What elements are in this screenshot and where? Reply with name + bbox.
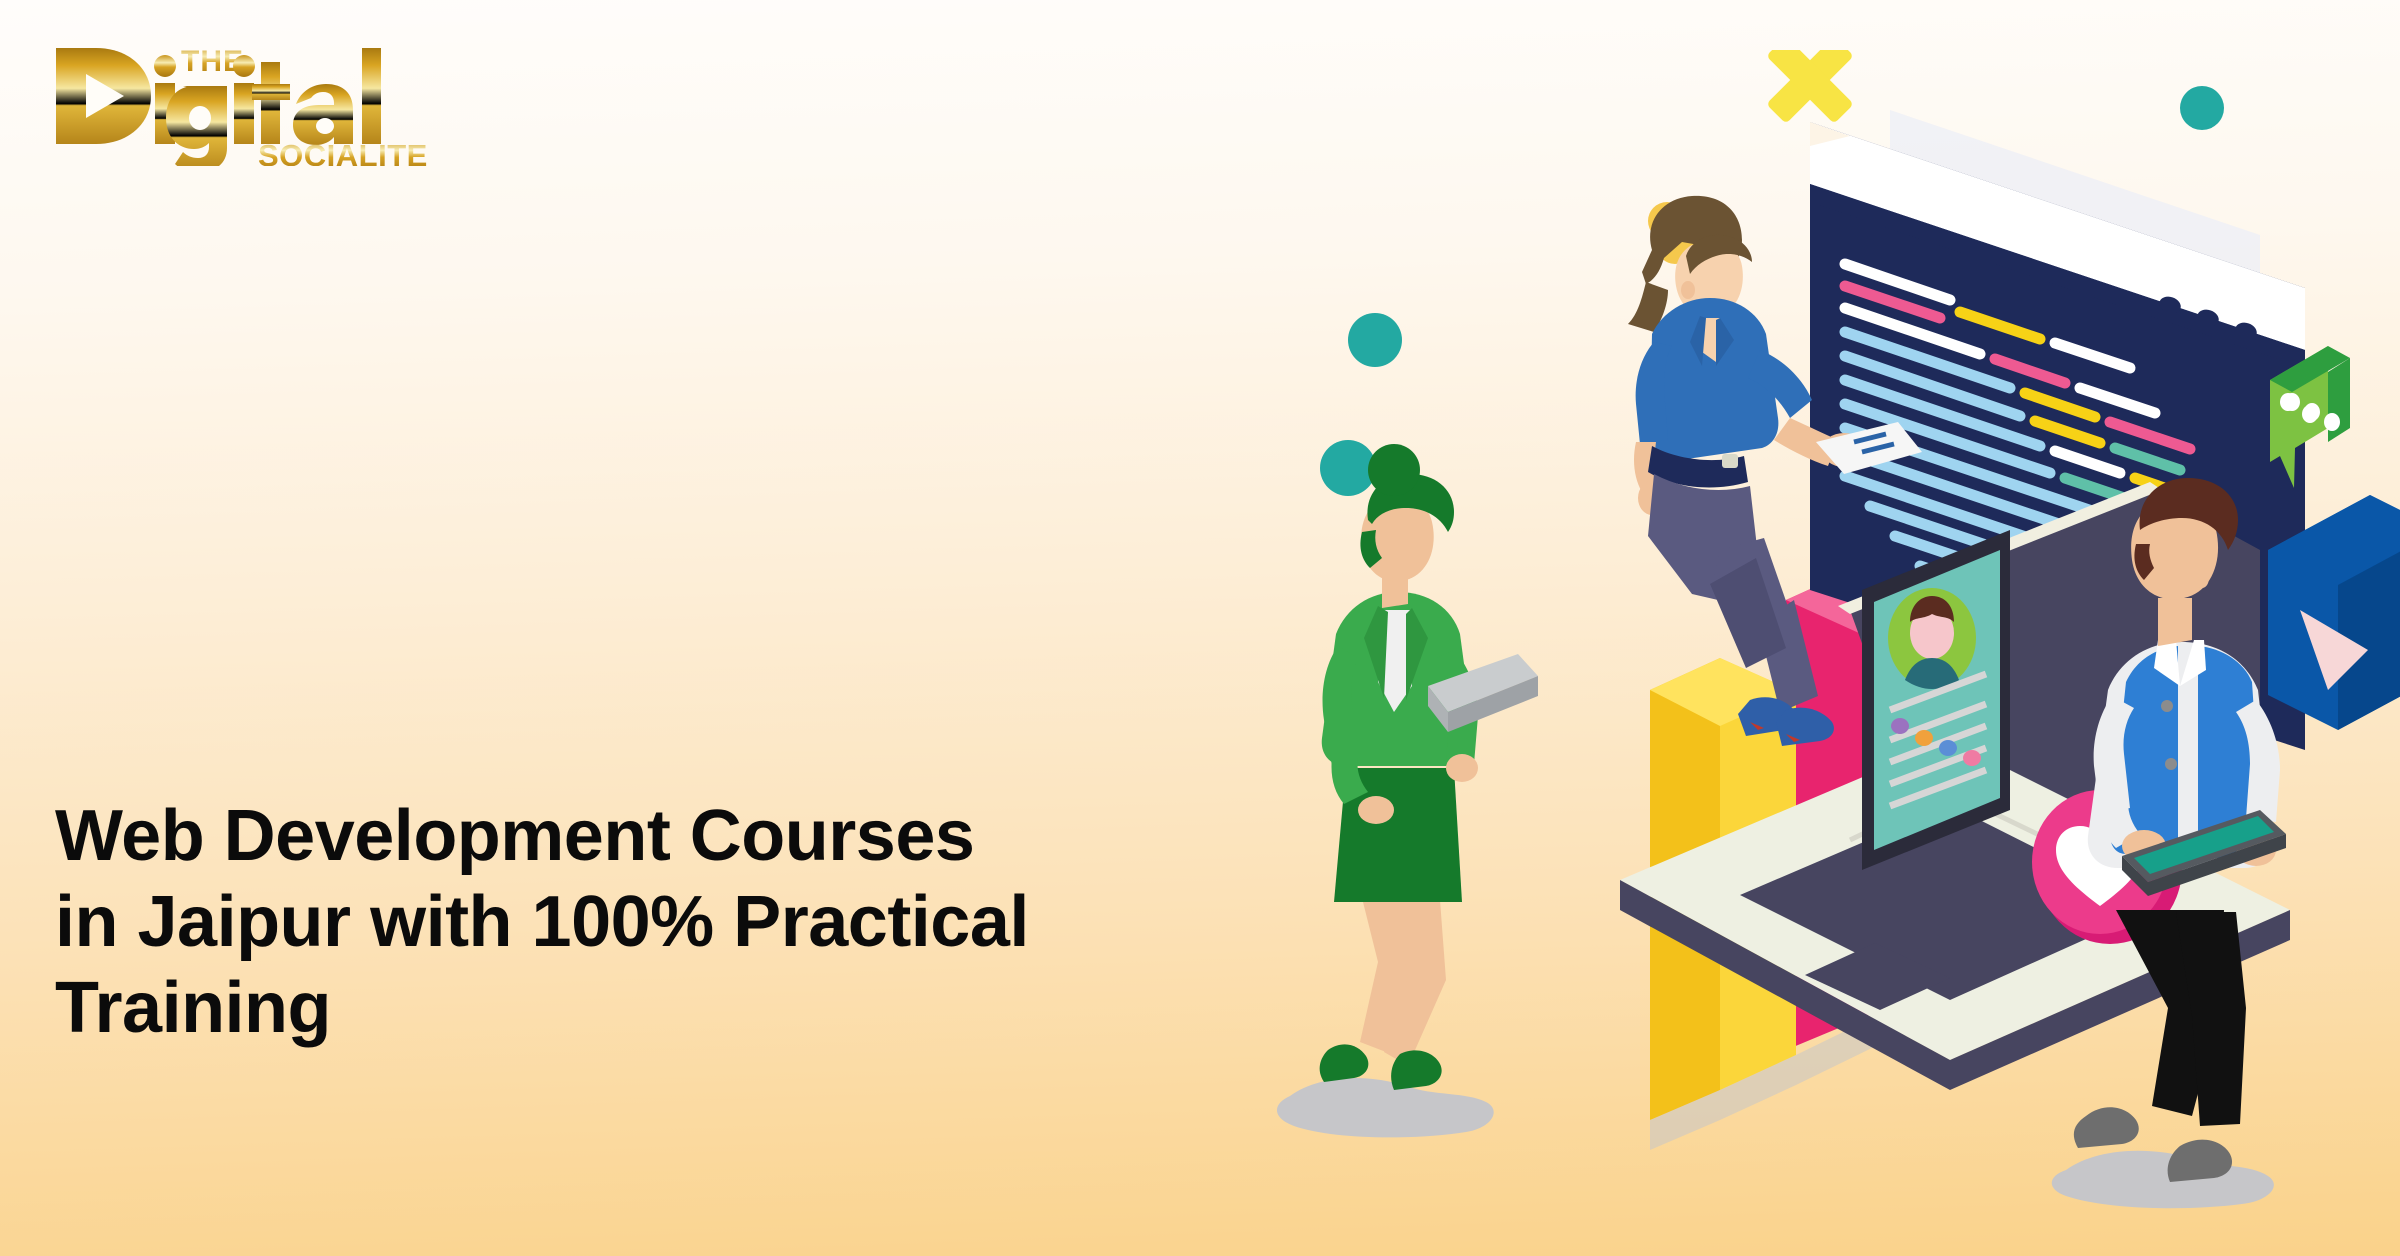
site-logo[interactable]: THE SOCIALITE xyxy=(48,26,428,166)
logo-t xyxy=(252,62,290,144)
logo-socialite-text: SOCIALITE xyxy=(258,138,428,166)
logo-a xyxy=(293,84,353,145)
headline-line-2: in Jaipur with 100% Practical xyxy=(55,879,1175,965)
logo-artwork: THE SOCIALITE xyxy=(48,26,428,166)
headline-line-3: Training xyxy=(55,965,1175,1051)
logo-d-play-icon xyxy=(56,48,151,144)
illustration-artwork xyxy=(1250,50,2400,1250)
logo-g xyxy=(166,86,227,166)
teal-circle-4 xyxy=(2180,86,2224,130)
avatar xyxy=(1905,596,1959,689)
woman-green-suit xyxy=(1277,444,1538,1137)
headline-line-1: Web Development Courses xyxy=(55,793,1175,879)
hero-illustration xyxy=(1250,50,2400,1250)
teal-circle-1 xyxy=(1348,313,1402,367)
teal-circle-2 xyxy=(1320,440,1376,496)
hero-banner: THE SOCIALITE xyxy=(0,0,2400,1256)
logo-i-dot xyxy=(154,55,176,77)
logo-l xyxy=(362,48,381,144)
page-title: Web Development Courses in Jaipur with 1… xyxy=(55,793,1175,1051)
